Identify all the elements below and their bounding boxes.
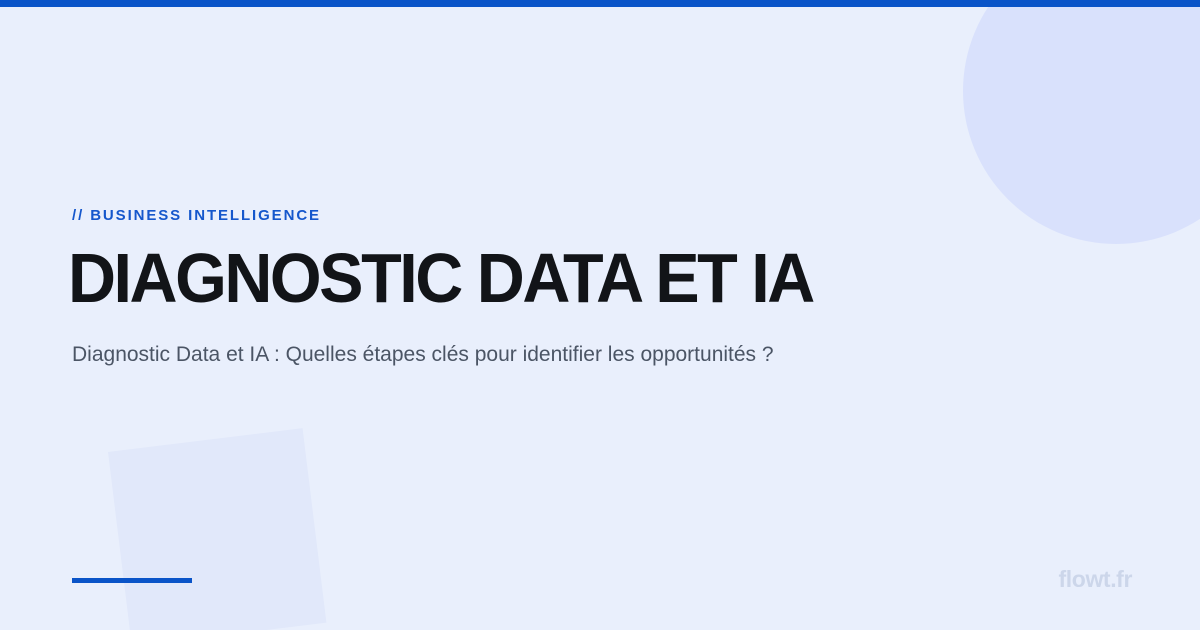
- accent-rule: [72, 578, 192, 583]
- page-title: DIAGNOSTIC DATA ET IA: [68, 243, 813, 313]
- page-subtitle: Diagnostic Data et IA : Quelles étapes c…: [72, 341, 774, 369]
- brand-logo: flowt.fr: [1059, 566, 1132, 593]
- category-eyebrow: // BUSINESS INTELLIGENCE: [72, 207, 321, 224]
- og-card: // BUSINESS INTELLIGENCE DIAGNOSTIC DATA…: [0, 0, 1200, 630]
- hero-content: // BUSINESS INTELLIGENCE DIAGNOSTIC DATA…: [72, 0, 1132, 630]
